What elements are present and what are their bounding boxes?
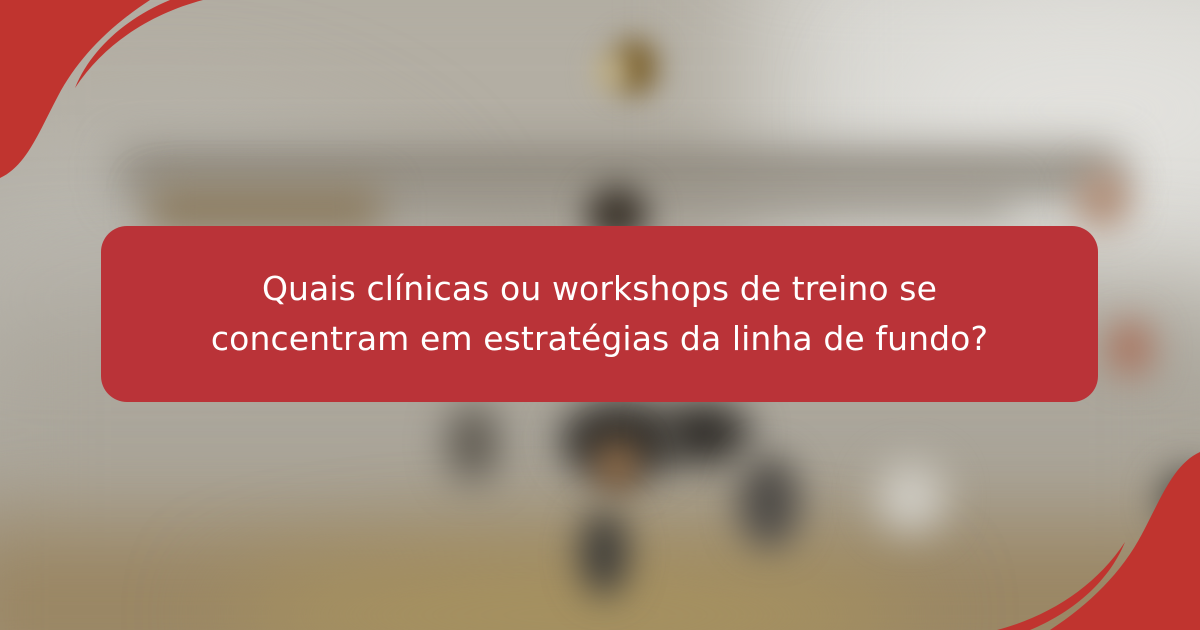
bg-object-pale-right — [876, 462, 946, 532]
question-card: Quais clínicas ou workshops de treino se… — [101, 226, 1098, 402]
corner-swoosh-top-left — [0, 0, 260, 210]
bg-object-terracotta-mid-right — [1108, 320, 1152, 376]
bg-figure-leg — [580, 510, 628, 596]
question-text: Quais clínicas ou workshops de treino se… — [211, 264, 988, 364]
bg-object-dark-left — [448, 404, 498, 482]
bg-figure-arm-right — [660, 402, 750, 464]
corner-swoosh-bottom-right — [940, 420, 1200, 630]
bg-object-dark-right — [738, 456, 800, 548]
bg-object-wall-fixture-pale — [596, 54, 624, 90]
corner-swoosh-bottom-right-graphic — [940, 420, 1200, 630]
bg-figure-skin-tone — [596, 440, 638, 494]
bg-object-terracotta-upper-right — [1078, 170, 1128, 228]
corner-swoosh-top-left-graphic — [0, 0, 260, 210]
social-card-canvas: Quais clínicas ou workshops de treino se… — [0, 0, 1200, 630]
